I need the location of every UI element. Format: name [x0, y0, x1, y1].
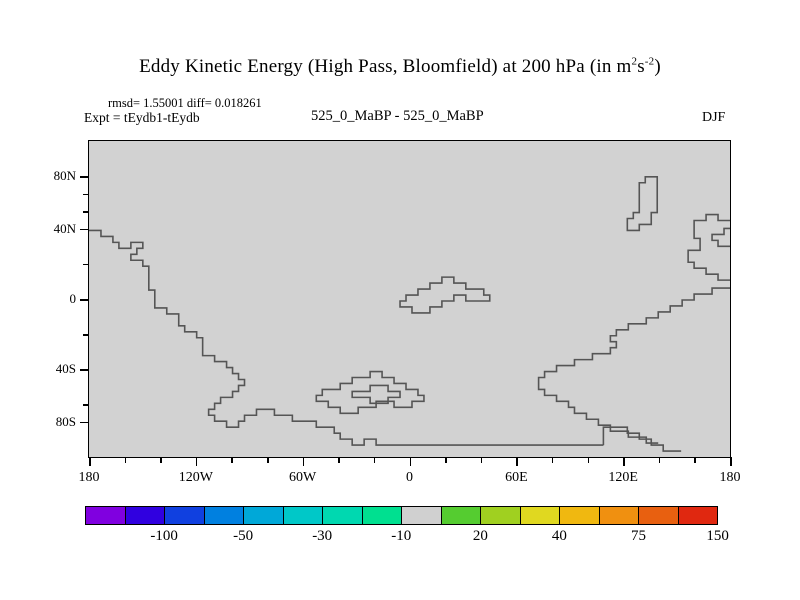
x-axis-label-0: 0 [406, 470, 413, 486]
y-tick-80S [80, 422, 89, 424]
colorbar-cell-13 [560, 507, 600, 524]
title-text-post: ) [654, 56, 661, 77]
y-tick-40N [80, 229, 89, 231]
y-tick-minor-60S [83, 404, 89, 406]
y-tick-40S [80, 369, 89, 371]
contour-map [89, 141, 730, 457]
x-tick-60W [303, 457, 305, 466]
colorbar-cell-16 [679, 507, 718, 524]
colorbar-cell-14 [600, 507, 640, 524]
x-tick-minor-160W [125, 457, 127, 463]
colorbar-label-8: 150 [706, 528, 729, 545]
x-tick-minor-140W [160, 457, 162, 463]
y-axis-label-0: 0 [70, 291, 77, 307]
colorbar-cell-9 [402, 507, 442, 524]
experiment-label: Expt = tEydb1-tEydb [84, 110, 200, 126]
x-tick-minor-40E [481, 457, 483, 463]
x-tick-minor-80E [552, 457, 554, 463]
x-tick-120E [623, 457, 625, 466]
x-axis-label-180E: 180 [720, 470, 741, 486]
x-tick-120W [196, 457, 198, 466]
x-tick-minor-140E [659, 457, 661, 463]
x-tick-180W [89, 457, 91, 466]
colorbar-cell-10 [442, 507, 482, 524]
colorbar-label-7: 75 [631, 528, 646, 545]
x-axis-label-60E: 60E [505, 470, 528, 486]
y-tick-80N [80, 176, 89, 178]
page-title: Eddy Kinetic Energy (High Pass, Bloomfie… [0, 56, 800, 78]
title-superscript-2: -2 [645, 56, 655, 68]
colorbar-label-2: -50 [233, 528, 253, 545]
y-tick-minor-20S [83, 334, 89, 336]
colorbar-label-6: 40 [552, 528, 567, 545]
zero-contour-lines [89, 177, 730, 451]
colorbar-label-4: -10 [391, 528, 411, 545]
colorbar-cell-5 [244, 507, 284, 524]
colorbar-label-3: -30 [312, 528, 332, 545]
colorbar-cell-15 [639, 507, 679, 524]
title-text-mid: s [637, 56, 645, 77]
map-plot-area: 80N 40N 0 40S 80S 180 120W 60W 0 60E 120… [88, 140, 731, 458]
x-tick-minor-160E [694, 457, 696, 463]
y-tick-minor-60N-b [83, 211, 89, 213]
colorbar-label-1: -100 [150, 528, 178, 545]
colorbar-cell-2 [126, 507, 166, 524]
colorbar [85, 506, 718, 525]
colorbar-cell-11 [481, 507, 521, 524]
x-axis-label-60W: 60W [289, 470, 316, 486]
x-tick-180E [730, 457, 732, 466]
y-axis-label-80N: 80N [54, 168, 76, 184]
case-comparison-label: 525_0_MaBP - 525_0_MaBP [311, 108, 484, 125]
y-axis-label-80S: 80S [56, 414, 76, 430]
y-axis-label-40N: 40N [54, 221, 76, 237]
colorbar-cell-6 [284, 507, 324, 524]
x-tick-minor-100E [588, 457, 590, 463]
x-tick-60E [516, 457, 518, 466]
y-tick-minor-60N [83, 194, 89, 196]
colorbar-cell-4 [205, 507, 245, 524]
x-tick-minor-20E [445, 457, 447, 463]
colorbar-cell-1 [86, 507, 126, 524]
y-axis-label-40S: 40S [56, 361, 76, 377]
x-axis-label-120E: 120E [608, 470, 638, 486]
colorbar-cell-3 [165, 507, 205, 524]
x-tick-minor-100W [231, 457, 233, 463]
season-label: DJF [702, 110, 725, 126]
colorbar-cell-12 [521, 507, 561, 524]
y-tick-0 [80, 299, 89, 301]
rmsd-annotation: rmsd= 1.55001 diff= 0.018261 [108, 96, 262, 111]
title-text-pre: Eddy Kinetic Energy (High Pass, Bloomfie… [139, 56, 631, 77]
colorbar-cell-8 [363, 507, 403, 524]
x-tick-minor-40W [338, 457, 340, 463]
colorbar-cell-7 [323, 507, 363, 524]
y-tick-minor-20N [83, 264, 89, 266]
x-axis-label-180W: 180 [79, 470, 100, 486]
x-tick-minor-20W [374, 457, 376, 463]
x-tick-minor-80W [267, 457, 269, 463]
climate-difference-figure: Eddy Kinetic Energy (High Pass, Bloomfie… [0, 0, 800, 600]
colorbar-label-5: 20 [473, 528, 488, 545]
x-axis-label-120W: 120W [179, 470, 213, 486]
x-tick-0 [410, 457, 412, 466]
